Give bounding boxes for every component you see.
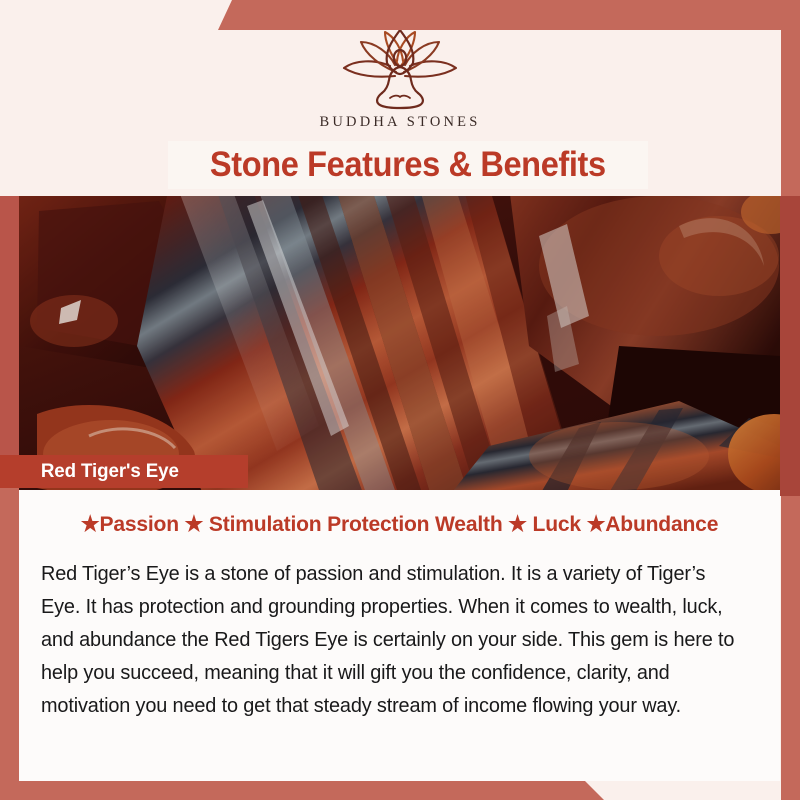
frame-left-content-bar — [0, 455, 19, 785]
frame-left-photo-bar — [0, 196, 19, 496]
brand-logo: BUDDHA STONES — [0, 26, 800, 131]
brand-name: BUDDHA STONES — [320, 114, 481, 131]
lotus-meditation-figure-icon — [335, 26, 465, 110]
content-panel: ★Passion ★ Stimulation Protection Wealth… — [19, 490, 780, 781]
stone-name-label: Red Tiger's Eye — [41, 460, 179, 483]
stone-photo — [19, 196, 780, 496]
frame-right-photo-bar — [780, 196, 800, 496]
keywords-line: ★Passion ★ Stimulation Protection Wealth… — [48, 512, 751, 537]
stone-description: Red Tiger’s Eye is a stone of passion an… — [41, 557, 736, 722]
infographic-page: BUDDHA STONES Stone Features & Benefits — [0, 0, 800, 800]
frame-bottom-bar — [0, 781, 800, 800]
red-tigers-eye-photo-illustration — [19, 196, 780, 496]
page-title-plaque: Stone Features & Benefits — [168, 141, 648, 189]
page-title: Stone Features & Benefits — [210, 145, 606, 185]
stone-name-banner: Red Tiger's Eye — [0, 455, 248, 488]
